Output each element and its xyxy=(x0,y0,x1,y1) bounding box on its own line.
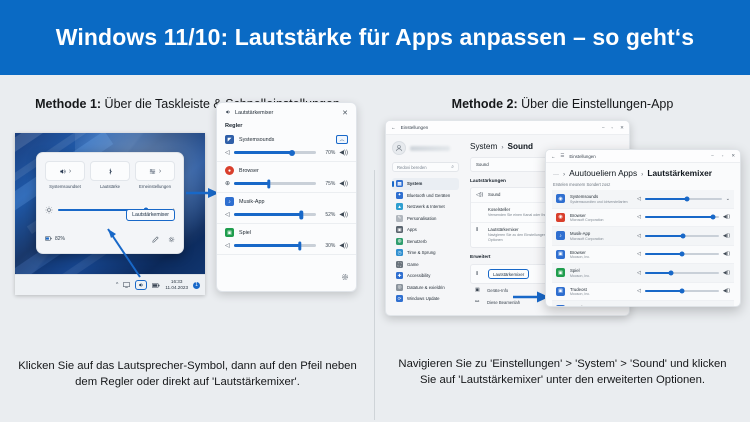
slider-fill xyxy=(645,235,683,237)
sidebar-item-label: Netzwerk & Internet xyxy=(407,204,445,209)
mixer-app-name: Spiel xyxy=(239,230,251,236)
battery-icon[interactable] xyxy=(152,283,160,288)
speaker-small-icon: ◁ xyxy=(637,214,641,220)
mixer-row-head: ● Browser xyxy=(225,166,348,175)
app-volume-slider[interactable]: ◁◀)) xyxy=(637,270,730,276)
volume-icon[interactable]: ◀)) xyxy=(723,233,730,239)
app-text: BrowserMicrosoft Corporation xyxy=(570,213,632,223)
mixer-track[interactable] xyxy=(234,182,316,184)
app-text: TrudeostMooson, Inc. xyxy=(570,287,632,297)
avatar xyxy=(392,141,406,155)
accessibility-icon xyxy=(149,162,156,180)
quick-tile-button[interactable]: › xyxy=(135,161,175,181)
sidebar-item-label: Apps xyxy=(407,227,417,232)
app-publisher: Microsoft Corporation xyxy=(570,237,632,241)
method-2-text: Über die Einstellungen-App xyxy=(518,97,674,111)
chevron-right-icon: › xyxy=(69,168,71,175)
device-icon: ▣ xyxy=(475,287,482,293)
mixer-fill xyxy=(234,213,302,215)
slider-fill xyxy=(645,290,682,292)
breadcrumb-root[interactable]: System xyxy=(470,142,497,151)
quick-tile-label: Erneinstellungen xyxy=(135,184,175,190)
mixer-icon: ⫴ xyxy=(476,227,483,233)
slider-thumb[interactable] xyxy=(685,196,690,201)
app-volume-slider[interactable]: ◁⌄ xyxy=(637,196,730,202)
mixer-thumb[interactable] xyxy=(289,150,295,156)
mixwin-titlebar: ← ☰ Einstellungen – ▫ ✕ xyxy=(546,150,740,163)
app-icon: ♪ xyxy=(225,197,234,206)
volume-icon[interactable]: ◀)) xyxy=(723,270,730,276)
mixer-app-row[interactable]: ▣BenedroutMicrosoft Corporation◁◀)) xyxy=(552,301,734,307)
sidebar-item-netzwerk-internet[interactable]: ▲Netzwerk & Internet xyxy=(392,201,459,213)
maximize-button[interactable]: ▫ xyxy=(722,153,724,159)
list-item-title: Diese Beamenlah xyxy=(487,300,520,305)
mixer-percent: 70% xyxy=(320,150,335,156)
app-name: Browser xyxy=(570,213,632,218)
sidebar-item-icon: ✦ xyxy=(396,192,403,199)
clock-date: 11.04.2023 xyxy=(165,285,188,291)
mixwin-app-list: ◉SystemsoundsSystemsoundtex und Idrivers… xyxy=(546,190,740,307)
mixer-section-label: Regler xyxy=(217,119,356,131)
method-1-column: Methode 1: Über die Taskleiste & Schnell… xyxy=(0,75,375,422)
app-volume-slider[interactable]: ◁◀)) xyxy=(637,233,730,239)
app-name: Spiel xyxy=(570,268,632,273)
mixer-track[interactable] xyxy=(234,151,317,153)
close-button[interactable]: ✕ xyxy=(731,153,735,159)
app-icon: ▣ xyxy=(556,287,565,296)
sidebar-item-icon: ⛶ xyxy=(396,261,403,268)
mixer-app-row[interactable]: ◉BrowserMicrosoft Corporation◁◀)) xyxy=(552,209,734,228)
method-2-column: Methode 2: Über die Einstellungen-App ← … xyxy=(375,75,750,422)
taskbar-volume-icon[interactable] xyxy=(135,280,147,290)
mixer-app-row[interactable]: ◉SystemsoundsSystemsoundtex und Idrivers… xyxy=(552,190,734,209)
sidebar-item-icon: ◍ xyxy=(396,238,403,245)
sidebar-item-label: Accessibility xyxy=(407,273,430,278)
mixer-app-row[interactable]: ▣TrudeostMooson, Inc.◁◀)) xyxy=(552,283,734,302)
settings-nav: ▤System✦Bluetooth und Geräten▲Netzwerk &… xyxy=(392,178,459,305)
minimize-button[interactable]: – xyxy=(602,125,605,131)
quick-tile-button[interactable]: › xyxy=(45,161,85,181)
quick-settings-tiles: › Systemsoundset Lautstärke xyxy=(45,161,175,190)
app-icon: ● xyxy=(225,166,234,175)
breadcrumb-current: Sound xyxy=(507,142,532,151)
mixer-settings-icon[interactable] xyxy=(341,268,349,286)
app-publisher: Microsoft Corporation xyxy=(570,218,632,222)
minimize-button[interactable]: – xyxy=(711,153,713,159)
app-name: Musik-App xyxy=(570,231,632,236)
app-icon: ▣ xyxy=(556,305,565,307)
speaker-small-icon: ◁ xyxy=(637,270,641,276)
sidebar-item-label: Game xyxy=(407,262,419,267)
mixer-titlebar: Lautstärkemixer ✕ xyxy=(217,103,356,119)
app-name: Benedrout xyxy=(570,305,632,307)
mixer-row: ♪ Musik-App ◁ 52% ◀)) xyxy=(217,193,356,224)
methods-container: Methode 1: Über die Taskleiste & Schnell… xyxy=(0,75,750,422)
quick-settings-footer: 82% xyxy=(45,230,175,248)
taskbar: ^ 16:33 11.04.2023 1 xyxy=(15,274,205,295)
volume-icon[interactable]: ◀)) xyxy=(723,288,730,294)
app-publisher: Mooson, Inc. xyxy=(570,292,632,296)
mixer-slider[interactable]: ◁ 30% ◀)) xyxy=(225,242,348,249)
app-icon: ◤ xyxy=(225,135,234,144)
search-input[interactable]: Redovi bereden ⌕ xyxy=(392,162,459,172)
breadcrumb-separator: › xyxy=(641,171,643,178)
quick-settings-actions xyxy=(152,230,175,248)
settings-titlebar: ← Einstellungen – ▫ ✕ xyxy=(386,121,629,135)
mixer-app-row[interactable]: ♪Musik-AppMicrosoft Corporation◁◀)) xyxy=(552,227,734,246)
app-name: Trudeost xyxy=(570,287,632,292)
speaker-icon: ◁)) xyxy=(476,192,483,198)
notification-badge[interactable]: 1 xyxy=(193,282,200,289)
method-2-prefix: Methode 2: xyxy=(452,97,518,111)
sidebar-item-apps[interactable]: ▣Apps xyxy=(392,224,459,236)
quick-tile-accessibility[interactable]: › Erneinstellungen xyxy=(135,161,175,190)
speaker-small-icon: ◁ xyxy=(637,288,641,294)
app-text: Musik-AppMicrosoft Corporation xyxy=(570,231,632,241)
mixer-icon: ⫴ xyxy=(476,271,483,277)
monitor-icon[interactable] xyxy=(123,282,130,288)
mixer-app-row[interactable]: ▣SpielMooson, Inc.◁◀)) xyxy=(552,264,734,283)
volume-mixer-button[interactable]: Lautstärkemixer xyxy=(126,209,175,221)
volume-mixer-window: Lautstärkemixer ✕ Regler ◤ Systemsounds … xyxy=(216,102,357,292)
method-1-prefix: Methode 1: xyxy=(35,97,101,111)
mixer-slider[interactable]: ⊕ 75% ◀)) xyxy=(225,180,348,187)
search-icon[interactable]: ⌕ xyxy=(451,164,454,170)
sidebar-item-icon: ◎ xyxy=(396,284,403,291)
slider-thumb[interactable] xyxy=(710,215,715,220)
breadcrumb-separator: › xyxy=(501,144,503,151)
app-name: Systemsounds xyxy=(570,194,632,199)
mixer-fill xyxy=(234,182,269,184)
quick-tile-button[interactable] xyxy=(90,161,130,181)
mixer-track[interactable] xyxy=(234,213,317,215)
mixer-row: ▣ Spiel ◁ 30% ◀)) xyxy=(217,224,356,255)
list-item-title: Geräte-Info xyxy=(487,288,508,293)
app-publisher: Mooson, Inc. xyxy=(570,255,632,259)
settings-sidebar: Redovi bereden ⌕ ▤System✦Bluetooth und G… xyxy=(386,135,464,316)
mixer-app-name: Systemsounds xyxy=(239,137,274,143)
sidebar-item-windows-update[interactable]: ⟳Windows Update xyxy=(392,293,459,305)
expand-chevron-icon[interactable]: ︿ xyxy=(336,135,348,144)
mixer-percent: 52% xyxy=(320,212,335,218)
sidebar-item-accessibility[interactable]: ✚Accessibility xyxy=(392,270,459,282)
sidebar-item-icon: ✎ xyxy=(396,215,403,222)
method-2-caption: Navigieren Sie zu 'Einstellungen' > 'Sys… xyxy=(393,356,732,388)
mixer-thumb[interactable] xyxy=(298,241,301,250)
sidebar-item-icon: ▲ xyxy=(396,203,403,210)
taskbar-clock[interactable]: 16:33 11.04.2023 xyxy=(165,279,188,291)
mixwin-window-title: Einstellungen xyxy=(569,154,595,159)
app-text: SpielMooson, Inc. xyxy=(570,268,632,278)
mixer-track[interactable] xyxy=(234,244,317,246)
mixer-percent: 75% xyxy=(320,181,335,187)
mixer-slider[interactable]: ◁ 70% ◀)) xyxy=(225,149,348,156)
sidebar-item-icon: ◷ xyxy=(396,249,403,256)
mixer-thumb[interactable] xyxy=(267,179,270,188)
app-publisher: Mooson, Inc. xyxy=(570,274,632,278)
settings-window-title: Einstellungen xyxy=(401,125,429,130)
sidebar-item-label: System xyxy=(407,181,422,186)
quick-settings-panel: › Systemsoundset Lautstärke xyxy=(36,152,184,254)
sidebar-item-label: Datature & exieldrin xyxy=(407,285,445,290)
close-icon[interactable]: ✕ xyxy=(342,109,348,117)
app-icon: ▣ xyxy=(225,228,234,237)
sidebar-item-icon: ▤ xyxy=(396,180,403,187)
volume-mixer-settings-window: ← ☰ Einstellungen – ▫ ✕ ··· › Auutouelie… xyxy=(545,149,741,307)
mixwin-breadcrumb: ··· › Auutoueliern Apps › Lautstärkemixe… xyxy=(546,163,740,178)
sidebar-item-icon: ▣ xyxy=(396,226,403,233)
mixer-row-head: ▣ Spiel xyxy=(225,228,348,237)
mixer-window-title: Lautstärkemixer xyxy=(235,110,273,116)
bluetooth-icon xyxy=(107,162,114,180)
speaker-small-icon: ◁ xyxy=(637,196,641,202)
speaker-small-icon: ◁ xyxy=(637,233,641,239)
sidebar-item-time-sprung[interactable]: ◷Time & Sprung xyxy=(392,247,459,259)
volume-icon[interactable]: ◀)) xyxy=(723,251,730,257)
app-icon: ◉ xyxy=(556,213,565,222)
mixer-app-name: Musik-App xyxy=(239,199,264,205)
quick-tile-label: Systemsoundset xyxy=(45,184,85,190)
search-placeholder: Redovi bereden xyxy=(397,165,427,170)
pencil-icon[interactable] xyxy=(152,230,159,248)
globe-icon: ⊕ xyxy=(225,180,230,187)
mixer-fill xyxy=(234,244,300,246)
mixer-fill xyxy=(234,151,292,153)
mixer-app-row[interactable]: ▣BrowserMooson, Inc.◁◀)) xyxy=(552,246,734,265)
speaker-small-icon: ◁ xyxy=(637,251,641,257)
slider-fill xyxy=(645,253,682,255)
back-arrow-icon[interactable]: ← xyxy=(551,154,555,159)
method-2-title: Methode 2: Über die Einstellungen-App xyxy=(375,97,750,111)
mixer-row-head: ◤ Systemsounds ︿ xyxy=(225,135,348,144)
slider-thumb[interactable] xyxy=(681,233,686,238)
sidebar-item-game[interactable]: ⛶Game xyxy=(392,259,459,271)
slider-track[interactable] xyxy=(645,235,719,237)
speaker-small-icon: ◁ xyxy=(225,211,230,218)
link-icon: ⚯ xyxy=(475,299,482,305)
volume-icon[interactable]: ◀)) xyxy=(339,242,348,249)
username-redacted xyxy=(410,146,450,151)
app-volume-slider[interactable]: ◁◀)) xyxy=(637,288,730,294)
app-volume-slider[interactable]: ◁◀)) xyxy=(637,214,730,220)
sidebar-item-datature-exieldrin[interactable]: ◎Datature & exieldrin xyxy=(392,282,459,294)
quick-tile-system-sound[interactable]: › Systemsoundset xyxy=(45,161,85,190)
speaker-small-icon: ◁ xyxy=(225,149,230,156)
battery-percent: 82% xyxy=(55,236,65,242)
app-icon: ▣ xyxy=(556,268,565,277)
chevron-right-icon: › xyxy=(159,168,161,175)
page-header: Windows 11/10: Lautstärke für Apps anpas… xyxy=(0,0,750,75)
brightness-icon xyxy=(45,201,53,219)
volume-icon[interactable]: ◀)) xyxy=(339,180,348,187)
slider-fill xyxy=(645,216,713,218)
app-publisher: Systemsoundtex und Idriverstellarten xyxy=(570,200,632,204)
hamburger-icon[interactable]: ☰ xyxy=(560,153,564,159)
app-icon: ▣ xyxy=(556,250,565,259)
sidebar-item-label: Time & Sprung xyxy=(407,250,436,255)
mixer-row-head: ♪ Musik-App xyxy=(225,197,348,206)
slider-track[interactable] xyxy=(645,198,722,200)
slider-thumb[interactable] xyxy=(669,270,674,275)
battery-status: 82% xyxy=(45,236,65,243)
sidebar-item-label: Windows Update xyxy=(407,296,439,301)
volume-icon[interactable]: ◀)) xyxy=(339,149,348,156)
app-text: SystemsoundsSystemsoundtex und Idriverst… xyxy=(570,194,632,204)
sidebar-item-label: Benutzerb xyxy=(407,239,427,244)
speaker-small-icon: ◁ xyxy=(225,242,230,249)
app-text: BenedroutMicrosoft Corporation xyxy=(570,305,632,307)
sidebar-item-benutzerb[interactable]: ◍Benutzerb xyxy=(392,236,459,248)
breadcrumb-separator: › xyxy=(563,171,565,178)
mixer-thumb[interactable] xyxy=(300,210,303,219)
sidebar-item-icon: ⟳ xyxy=(396,295,403,302)
speaker-icon xyxy=(59,162,66,180)
back-arrow-icon[interactable]: ← xyxy=(391,125,396,130)
sidebar-item-icon: ✚ xyxy=(396,272,403,279)
slider-track[interactable] xyxy=(645,216,719,218)
battery-icon xyxy=(45,236,52,243)
sidebar-item-label: Bluetooth und Geräten xyxy=(407,193,450,198)
window-controls: – ▫ ✕ xyxy=(711,153,735,159)
sidebar-item-label: Personalisation xyxy=(407,216,436,221)
maximize-button[interactable]: ▫ xyxy=(612,125,614,131)
mixer-row: ● Browser ⊕ 75% ◀)) xyxy=(217,162,356,193)
breadcrumb-overflow-icon[interactable]: ··· xyxy=(553,172,559,178)
slider-thumb[interactable] xyxy=(679,252,684,257)
slider-track[interactable] xyxy=(645,253,719,255)
list-item-title: Sound xyxy=(488,192,500,197)
page-title: Windows 11/10: Lautstärke für Apps anpas… xyxy=(56,24,694,51)
sidebar-item-bluetooth-und-ger-ten[interactable]: ✦Bluetooth und Geräten xyxy=(392,190,459,202)
mixwin-subtitle: Erstelen meonern Sondert zosz xyxy=(546,178,740,190)
volume-icon[interactable]: ◀)) xyxy=(723,214,730,220)
app-volume-slider[interactable]: ◁◀)) xyxy=(637,251,730,257)
close-button[interactable]: ✕ xyxy=(620,125,624,131)
volume-icon[interactable]: ◀)) xyxy=(339,211,348,218)
mixer-slider[interactable]: ◁ 52% ◀)) xyxy=(225,211,348,218)
sidebar-item-personalisation[interactable]: ✎Personalisation xyxy=(392,213,459,225)
app-text: BrowserMooson, Inc. xyxy=(570,250,632,260)
speaker-icon xyxy=(225,109,231,117)
app-icon: ♪ xyxy=(556,231,565,240)
mixer-app-name: Browser xyxy=(239,168,259,174)
slider-track[interactable] xyxy=(645,272,719,274)
advanced-volume-mixer-label[interactable]: Lautstärkemixer xyxy=(488,269,529,279)
app-icon: ◉ xyxy=(556,194,565,203)
gear-icon[interactable] xyxy=(168,230,175,248)
sidebar-item-system[interactable]: ▤System xyxy=(392,178,459,190)
desktop-screenshot: › Systemsoundset Lautstärke xyxy=(15,133,205,295)
slider-fill xyxy=(645,272,672,274)
mixer-row: ◤ Systemsounds ︿ ◁ 70% ◀)) xyxy=(217,131,356,162)
app-name: Browser xyxy=(570,250,632,255)
chevron-up-icon[interactable]: ^ xyxy=(116,282,118,288)
mixer-percent: 30% xyxy=(320,243,335,249)
slider-fill xyxy=(645,198,687,200)
quick-tile-volume[interactable]: Lautstärke xyxy=(90,161,130,190)
quick-tile-label: Lautstärke xyxy=(90,184,130,190)
chevron-down-icon[interactable]: ⌄ xyxy=(726,196,730,202)
method-1-caption: Klicken Sie auf das Lautsprecher-Symbol,… xyxy=(18,358,357,390)
slider-track[interactable] xyxy=(645,290,719,292)
breadcrumb-current: Lautstärkemixer xyxy=(647,168,712,178)
infographic-page: Windows 11/10: Lautstärke für Apps anpas… xyxy=(0,0,750,422)
window-controls: – ▫ ✕ xyxy=(602,125,624,131)
slider-thumb[interactable] xyxy=(679,289,684,294)
breadcrumb-root[interactable]: Auutoueliern Apps xyxy=(569,168,637,178)
user-profile[interactable] xyxy=(392,141,459,155)
